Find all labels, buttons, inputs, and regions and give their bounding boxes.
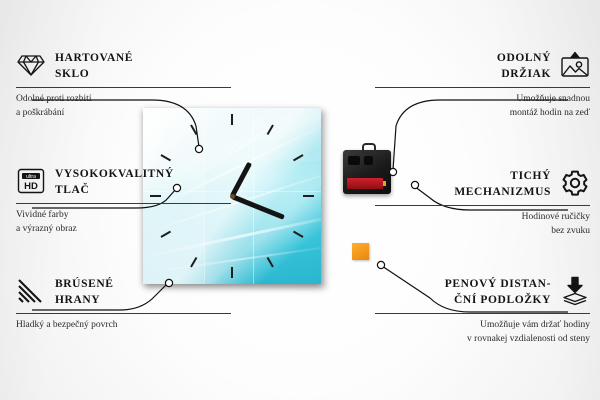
feature-tempered-glass: HARTOVANÉ SKLO Odolné proti rozbití a po… bbox=[16, 50, 231, 120]
clock-minute-hand bbox=[231, 194, 285, 220]
tick-mark bbox=[267, 257, 274, 268]
feature-foam-spacers: PENOVÝ DISTAN- ČNÍ PODLOŽKY Umožňuje vám… bbox=[375, 276, 590, 346]
feature-divider bbox=[375, 313, 590, 314]
feature-silent-mechanism: TICHÝ MECHANIZMUS Hodinové ručičky bez z… bbox=[375, 168, 590, 238]
feature-divider bbox=[375, 205, 590, 206]
feature-title: BRÚSENÉ HRANY bbox=[55, 276, 114, 308]
tick-mark bbox=[231, 267, 233, 278]
svg-text:HD: HD bbox=[24, 181, 38, 192]
feature-header: PENOVÝ DISTAN- ČNÍ PODLOŽKY bbox=[375, 276, 590, 308]
feature-title: TICHÝ MECHANIZMUS bbox=[454, 168, 551, 200]
ultra-hd-icon: ultra HD bbox=[16, 166, 46, 196]
feature-header: HARTOVANÉ SKLO bbox=[16, 50, 231, 82]
feature-description: Odolné proti rozbití a poškrábání bbox=[16, 93, 231, 120]
framed-picture-icon bbox=[560, 50, 590, 80]
feature-title: ODOLNÝ DRŽIAK bbox=[497, 50, 551, 82]
feature-durable-hanger: ODOLNÝ DRŽIAK Umožňuje snadnou montáž ho… bbox=[375, 50, 590, 120]
stacked-pad-arrow-icon bbox=[560, 276, 590, 306]
tick-mark bbox=[293, 231, 304, 238]
svg-text:ultra: ultra bbox=[26, 174, 36, 180]
feature-title: HARTOVANÉ SKLO bbox=[55, 50, 133, 82]
diagonal-stripes-icon bbox=[16, 276, 46, 306]
feature-description: Hodinové ručičky bez zvuku bbox=[375, 211, 590, 238]
tick-mark bbox=[303, 195, 314, 197]
mechanism-cavity bbox=[348, 156, 360, 165]
feature-description: Umožňuje vám držať hodiny v rovnakej vzd… bbox=[375, 319, 590, 346]
infographic-canvas: HARTOVANÉ SKLO Odolné proti rozbití a po… bbox=[0, 0, 600, 400]
feature-divider bbox=[375, 87, 590, 88]
feature-header: ODOLNÝ DRŽIAK bbox=[375, 50, 590, 82]
feature-header: ultra HD VYSOKOKVALITNÝ TLAČ bbox=[16, 166, 231, 198]
feature-divider bbox=[16, 313, 231, 314]
feature-header: BRÚSENÉ HRANY bbox=[16, 276, 231, 308]
feature-title: PENOVÝ DISTAN- ČNÍ PODLOŽKY bbox=[445, 276, 551, 308]
mechanism-cavity bbox=[364, 156, 373, 165]
feature-header: TICHÝ MECHANIZMUS bbox=[375, 168, 590, 200]
foam-spacer-pad bbox=[352, 243, 369, 260]
feature-ground-edges: BRÚSENÉ HRANY Hladký a bezpečný povrch bbox=[16, 276, 231, 333]
diamond-icon bbox=[16, 50, 46, 80]
tick-mark bbox=[231, 114, 233, 125]
mechanism-shaft bbox=[362, 143, 376, 153]
feature-description: Hladký a bezpečný povrch bbox=[16, 319, 231, 332]
feature-description: Umožňuje snadnou montáž hodin na zeď bbox=[375, 93, 590, 120]
feature-divider bbox=[16, 203, 231, 204]
gear-icon bbox=[560, 168, 590, 198]
feature-high-quality-print: ultra HD VYSOKOKVALITNÝ TLAČ Vividné far… bbox=[16, 166, 231, 236]
feature-divider bbox=[16, 87, 231, 88]
feature-title: VYSOKOKVALITNÝ TLAČ bbox=[55, 166, 174, 198]
feature-description: Vividné farby a výrazný obraz bbox=[16, 209, 231, 236]
